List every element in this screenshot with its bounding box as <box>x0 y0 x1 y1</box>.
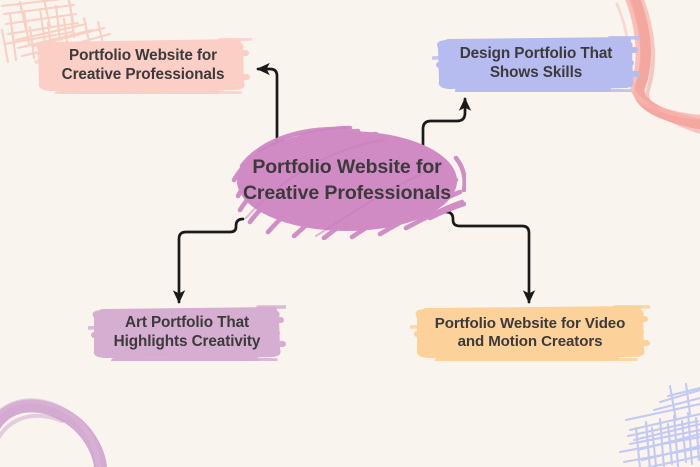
branch-node-bottom-left-label: Art Portfolio That Highlights Creativity <box>88 312 286 353</box>
branch-node-top-right-label: Design Portfolio That Shows Skills <box>432 43 640 84</box>
center-node-label: Portfolio Website for Creative Professio… <box>228 155 466 206</box>
branch-node-top-right[interactable]: Design Portfolio That Shows Skills <box>432 36 640 92</box>
branch-node-bottom-right[interactable]: Portfolio Website for Video and Motion C… <box>410 305 650 361</box>
bottom-left-circle-arc-icon <box>0 401 101 467</box>
center-node[interactable]: Portfolio Website for Creative Professio… <box>228 122 466 240</box>
branch-node-top-left[interactable]: Portfolio Website for Creative Professio… <box>34 38 252 94</box>
branch-node-bottom-left[interactable]: Art Portfolio That Highlights Creativity <box>88 305 286 361</box>
branch-node-top-left-label: Portfolio Website for Creative Professio… <box>34 45 252 86</box>
bottom-right-grid-doodle-icon <box>620 384 700 467</box>
mindmap-canvas: Portfolio Website for Creative Professio… <box>0 0 700 467</box>
branch-node-bottom-right-label: Portfolio Website for Video and Motion C… <box>410 313 650 354</box>
